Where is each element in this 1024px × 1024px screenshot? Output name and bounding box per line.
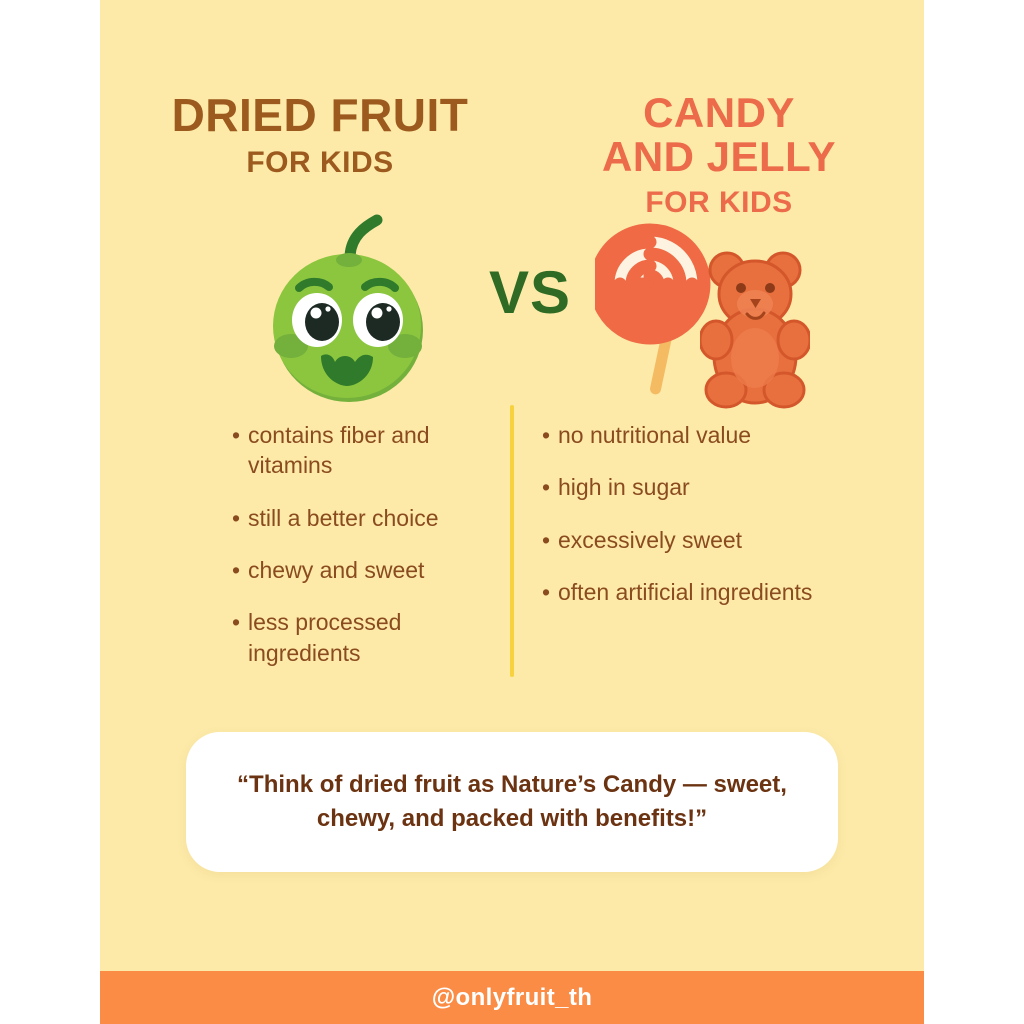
- list-item: • excessively sweet: [542, 525, 832, 555]
- footer-bar: @onlyfruit_th: [100, 971, 924, 1024]
- bullet-dot-icon: •: [232, 503, 248, 533]
- list-item: • high in sugar: [542, 472, 832, 502]
- bullet-text: contains fiber and vitamins: [248, 420, 497, 481]
- bullet-dot-icon: •: [232, 420, 248, 450]
- bullet-text: high in sugar: [558, 472, 832, 502]
- headers-row: DRIED FRUIT FOR KIDS CANDY AND JELLY FOR…: [100, 0, 924, 210]
- list-item: • no nutritional value: [542, 420, 832, 450]
- list-item: • less processed ingredients: [232, 607, 497, 668]
- gummy-bear-icon: [700, 242, 810, 412]
- left-title: DRIED FRUIT: [120, 0, 520, 138]
- bullet-text: no nutritional value: [558, 420, 832, 450]
- bullet-text: still a better choice: [248, 503, 497, 533]
- bullet-text: excessively sweet: [558, 525, 832, 555]
- bullet-dot-icon: •: [232, 555, 248, 585]
- list-item: • contains fiber and vitamins: [232, 420, 497, 481]
- quote-card: “Think of dried fruit as Nature’s Candy …: [186, 732, 838, 872]
- bullet-dot-icon: •: [542, 420, 558, 450]
- left-column-header: DRIED FRUIT FOR KIDS: [120, 0, 520, 180]
- list-item: • often artificial ingredients: [542, 577, 832, 607]
- left-bullet-list: • contains fiber and vitamins • still a …: [232, 420, 497, 690]
- bullet-dot-icon: •: [542, 525, 558, 555]
- left-title-line1: DRIED FRUIT: [172, 89, 469, 141]
- bullet-text: often artificial ingredients: [558, 577, 832, 607]
- right-bullet-list: • no nutritional value • high in sugar •…: [542, 420, 832, 629]
- list-item: • chewy and sweet: [232, 555, 497, 585]
- right-title: CANDY AND JELLY: [524, 0, 914, 178]
- green-fruit-character-icon: [255, 210, 440, 405]
- lollipop-icon: [595, 222, 715, 402]
- bullet-text: less processed ingredients: [248, 607, 497, 668]
- right-title-line2: AND JELLY: [524, 136, 914, 178]
- bullet-dot-icon: •: [232, 607, 248, 637]
- illustrations-row: VS: [100, 200, 924, 415]
- versus-label: VS: [470, 258, 590, 327]
- quote-text: “Think of dried fruit as Nature’s Candy …: [220, 768, 804, 836]
- bullet-dot-icon: •: [542, 577, 558, 607]
- infographic-poster: DRIED FRUIT FOR KIDS CANDY AND JELLY FOR…: [100, 0, 924, 1024]
- social-handle: @onlyfruit_th: [432, 984, 593, 1012]
- comparison-columns: • contains fiber and vitamins • still a …: [100, 420, 924, 690]
- right-column-header: CANDY AND JELLY FOR KIDS: [524, 0, 914, 220]
- right-title-line1: CANDY: [643, 89, 795, 136]
- left-subtitle: FOR KIDS: [120, 146, 520, 180]
- bullet-dot-icon: •: [542, 472, 558, 502]
- list-item: • still a better choice: [232, 503, 497, 533]
- bullet-text: chewy and sweet: [248, 555, 497, 585]
